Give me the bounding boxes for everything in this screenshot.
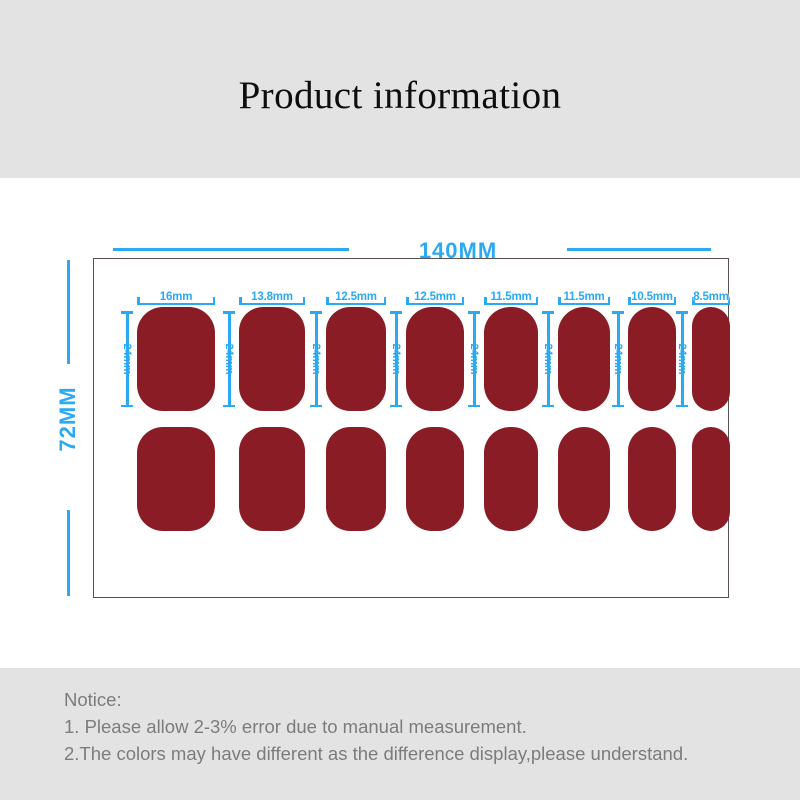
nail-width-dimension: 12.5mm [326, 285, 386, 305]
nail-height-dimension: 24mm [388, 311, 404, 407]
nail-strip [558, 427, 610, 531]
nail-strip [326, 307, 386, 411]
nail-height-label: 24mm [676, 344, 688, 375]
nail-strip [484, 427, 538, 531]
nail-height-tick-top [121, 311, 133, 314]
nail-height-dimension: 24mm [540, 311, 556, 407]
overall-height-label: 72MM [55, 345, 81, 493]
nail-width-label: 12.5mm [335, 291, 377, 303]
nail-width-dimension: 16mm [137, 285, 215, 305]
notice-band: Notice:1. Please allow 2-3% error due to… [0, 668, 800, 800]
nail-strip [484, 307, 538, 411]
header-band: Product information [0, 0, 800, 178]
nail-height-tick-top [223, 311, 235, 314]
nail-height-tick-top [542, 311, 554, 314]
nail-sticker-sheet: 16mm24mm13.8mm24mm12.5mm24mm12.5mm24mm11… [93, 258, 729, 598]
nail-width-tick-right [608, 297, 611, 305]
nail-width-tick-right [384, 297, 387, 305]
nail-width-label: 11.5mm [491, 291, 532, 303]
nail-width-tick-right [213, 297, 216, 305]
nail-strip [406, 307, 464, 411]
diagram-stage: 140MM 72MM 16mm24mm13.8mm24mm12.5mm24mm1… [0, 178, 800, 668]
nail-strip [628, 307, 676, 411]
nail-height-tick-top [468, 311, 480, 314]
nail-strip [692, 307, 730, 411]
width-dimension-line-left [113, 248, 349, 251]
nail-strip [239, 307, 305, 411]
height-dimension-line-bottom [67, 510, 70, 596]
nail-width-label: 10.5mm [631, 291, 673, 303]
nail-height-tick-bottom [542, 405, 554, 408]
nail-height-tick-bottom [612, 405, 624, 408]
page-title: Product information [0, 73, 800, 118]
nail-strip [137, 427, 215, 531]
nail-height-tick-bottom [676, 405, 688, 408]
nail-width-label: 8.5mm [693, 291, 728, 303]
nail-width-tick-left [326, 297, 329, 305]
nail-width-label: 12.5mm [414, 291, 456, 303]
nail-height-tick-top [676, 311, 688, 314]
nail-height-dimension: 24mm [119, 311, 135, 407]
nail-width-tick-left [239, 297, 242, 305]
nail-width-dimension: 12.5mm [406, 285, 464, 305]
nail-width-dimension: 10.5mm [628, 285, 676, 305]
nail-height-dimension: 24mm [466, 311, 482, 407]
nail-height-label: 24mm [542, 344, 554, 375]
nail-height-dimension: 24mm [674, 311, 690, 407]
nail-height-label: 24mm [121, 344, 133, 375]
nail-strip [406, 427, 464, 531]
nail-height-tick-top [612, 311, 624, 314]
nail-height-tick-bottom [390, 405, 402, 408]
nail-width-tick-right [674, 297, 677, 305]
nail-height-tick-bottom [223, 405, 235, 408]
nail-width-dimension: 11.5mm [484, 285, 538, 305]
nail-height-dimension: 24mm [308, 311, 324, 407]
nail-height-label: 24mm [310, 344, 322, 375]
nail-width-tick-left [558, 297, 561, 305]
nail-width-tick-left [628, 297, 631, 305]
nail-height-label: 24mm [468, 344, 480, 375]
nail-height-label: 24mm [390, 344, 402, 375]
nail-width-dimension: 8.5mm [692, 285, 730, 305]
notice-item: 2.The colors may have different as the d… [64, 740, 784, 767]
nail-width-dimension: 11.5mm [558, 285, 610, 305]
nail-width-tick-right [303, 297, 306, 305]
nail-width-tick-right [536, 297, 539, 305]
notice-heading: Notice: [64, 686, 784, 713]
nail-width-tick-right [462, 297, 465, 305]
nail-strip [628, 427, 676, 531]
nail-height-tick-bottom [468, 405, 480, 408]
nail-width-tick-left [484, 297, 487, 305]
nail-height-label: 24mm [223, 344, 235, 375]
nail-width-label: 13.8mm [251, 291, 293, 303]
nail-height-tick-bottom [121, 405, 133, 408]
notice-item: 1. Please allow 2-3% error due to manual… [64, 713, 784, 740]
nail-height-dimension: 24mm [221, 311, 237, 407]
notice-text-block: Notice:1. Please allow 2-3% error due to… [64, 686, 784, 768]
nail-width-tick-left [137, 297, 140, 305]
nail-height-tick-top [390, 311, 402, 314]
nail-strip [326, 427, 386, 531]
nail-height-label: 24mm [612, 344, 624, 375]
product-information-page: Product information 140MM 72MM 16mm24mm1… [0, 0, 800, 800]
nail-strip [239, 427, 305, 531]
width-dimension-line-right [567, 248, 711, 251]
overall-height-dimension: 72MM [56, 260, 80, 596]
nail-strip [558, 307, 610, 411]
nail-strip [692, 427, 730, 531]
nail-height-tick-bottom [310, 405, 322, 408]
nail-height-tick-top [310, 311, 322, 314]
nail-width-dimension: 13.8mm [239, 285, 305, 305]
nail-width-tick-left [406, 297, 409, 305]
nail-width-label: 16mm [160, 291, 192, 303]
nail-strip [137, 307, 215, 411]
nail-width-label: 11.5mm [564, 291, 605, 303]
nail-height-dimension: 24mm [610, 311, 626, 407]
overall-width-dimension: 140MM [113, 238, 711, 260]
